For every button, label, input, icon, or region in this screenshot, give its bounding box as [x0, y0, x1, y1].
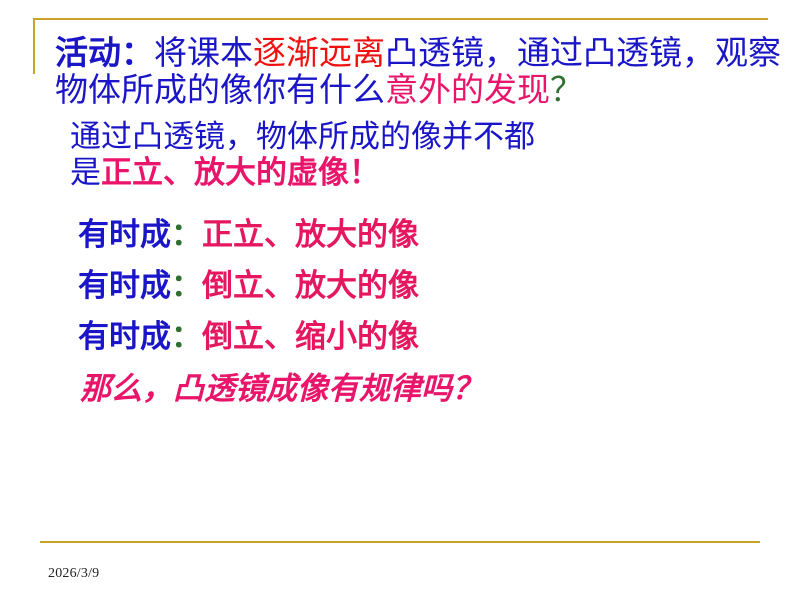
activity-seg-4: 意外的发现	[385, 73, 550, 109]
conclusion-paragraph: 通过凸透镜，物体所成的像并不都是正立、放大的虚像！	[70, 119, 780, 192]
case-2-colon: ：	[171, 268, 202, 303]
case-2-value: 倒立、放大的像	[202, 268, 419, 303]
activity-paragraph: 活动：将课本逐渐远离凸透镜，通过凸透镜，观察物体所成的像你有什么意外的发现？	[55, 36, 795, 110]
slide-body: 活动：将课本逐渐远离凸透镜，通过凸透镜，观察物体所成的像你有什么意外的发现？ 通…	[0, 36, 800, 406]
case-2-label: 有时成	[78, 268, 171, 303]
case-row-2: 有时成：倒立、放大的像	[78, 269, 800, 303]
case-row-3: 有时成：倒立、缩小的像	[78, 320, 800, 354]
frame-bottom-rule	[40, 541, 760, 543]
slide-date: 2026/3/9	[48, 566, 99, 582]
activity-seg-2: 逐渐远离	[253, 36, 385, 72]
case-3-value: 倒立、缩小的像	[202, 319, 419, 354]
activity-seg-0: 活动：	[55, 36, 154, 72]
activity-seg-1: 将课本	[154, 36, 253, 72]
activity-seg-5: ？	[550, 73, 583, 109]
case-1-colon: ：	[171, 217, 202, 252]
case-3-colon: ：	[171, 319, 202, 354]
closing-question: 那么，凸透镜成像有规律吗？	[80, 372, 800, 406]
conclusion-line-2-highlight: 正立、放大的虚像！	[101, 155, 380, 190]
slide-canvas: 活动：将课本逐渐远离凸透镜，通过凸透镜，观察物体所成的像你有什么意外的发现？ 通…	[0, 0, 800, 600]
case-1-label: 有时成	[78, 217, 171, 252]
conclusion-line-2-prefix: 是	[70, 155, 101, 190]
frame-top-rule	[33, 18, 768, 20]
conclusion-line-1: 通过凸透镜，物体所成的像并不都	[70, 119, 535, 154]
closing-question-text: 那么，凸透镜成像有规律吗？	[80, 371, 483, 406]
case-3-label: 有时成	[78, 319, 171, 354]
case-1-value: 正立、放大的像	[202, 217, 419, 252]
case-row-1: 有时成：正立、放大的像	[78, 218, 800, 252]
